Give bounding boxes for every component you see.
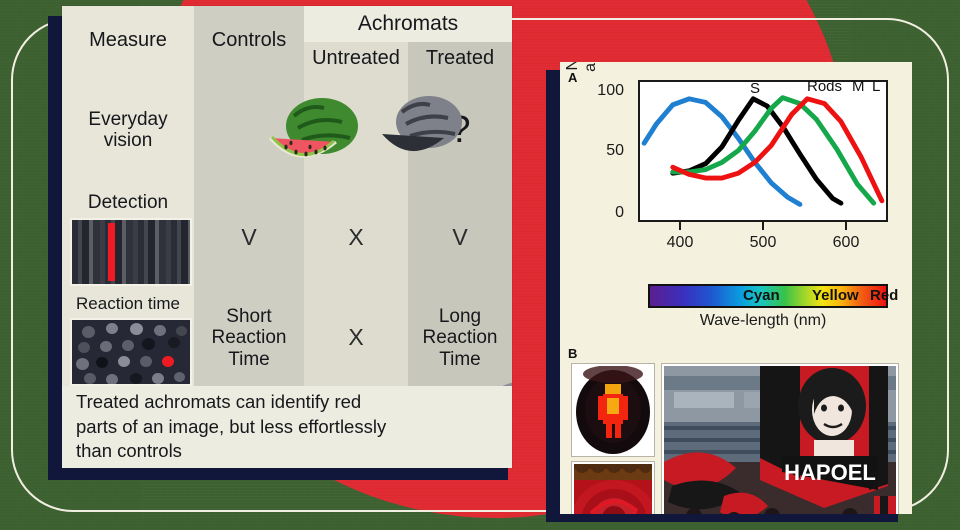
- grating-bars: [72, 220, 190, 284]
- absorbance-plot: [638, 80, 888, 222]
- reaction-distractor-dot: [176, 326, 187, 336]
- curve-Rods: [673, 99, 841, 203]
- spectra-curves: [640, 82, 886, 220]
- red-rose-photo: [572, 462, 654, 514]
- flag-banner-text: HAPOEL: [784, 460, 876, 485]
- table-footer-note: Treated achromats can identify red parts…: [62, 386, 512, 468]
- cell-detection-treated: V: [408, 186, 512, 290]
- curve-label-S: S: [750, 80, 760, 97]
- row-label-everyday-vision: Everyday vision: [62, 74, 194, 186]
- comparison-table-card: Measure Controls Achromats Untreated Tre…: [62, 6, 512, 468]
- cell-reaction-treated-line3: Time: [439, 349, 481, 370]
- cell-reaction-controls-line1: Short: [226, 306, 271, 327]
- cell-reaction-treated-line2: Reaction: [423, 327, 498, 348]
- chart-xtick-400: 400: [658, 234, 702, 252]
- gray-dots-with-red-dot-image: [70, 318, 192, 386]
- cell-reaction-treated: Long Reaction Time: [408, 290, 512, 386]
- spectrum-label-cyan: Cyan: [743, 287, 780, 304]
- chart-x-axis-ticks: [638, 222, 888, 234]
- reaction-distractor-dot: [96, 357, 108, 368]
- watermelon-grayscale-image: [380, 92, 466, 164]
- reaction-distractor-dot: [130, 373, 142, 384]
- curve-label-Rods: Rods: [807, 78, 842, 95]
- cell-detection-untreated: X: [304, 186, 408, 290]
- row-label-reaction-time-text: Reaction time: [76, 294, 180, 313]
- figure-card: A Normalized absorbance 100 50 0 S Rods …: [560, 62, 912, 514]
- header-treated: Treated: [408, 42, 512, 74]
- reaction-distractor-dot: [168, 337, 180, 348]
- curve-label-M: M: [852, 78, 865, 95]
- reaction-distractor-dot: [174, 372, 185, 382]
- reaction-distractor-dot: [154, 325, 166, 336]
- reaction-distractor-dot: [122, 340, 134, 351]
- reaction-distractor-dot: [140, 356, 152, 367]
- header-measure: Measure: [62, 6, 194, 74]
- spectrum-label-yellow: Yellow: [812, 287, 859, 304]
- reaction-distractor-dot: [106, 374, 118, 385]
- reaction-distractor-dot: [106, 323, 118, 334]
- spectrum-label-red: Red: [870, 287, 898, 304]
- table-footer-note-text: Treated achromats can identify red parts…: [76, 390, 396, 463]
- reaction-distractor-dot: [78, 342, 90, 353]
- reaction-distractor-dot: [130, 323, 143, 335]
- header-controls: Controls: [194, 6, 304, 74]
- cell-detection-controls: V: [194, 186, 304, 290]
- reaction-distractor-dot: [82, 326, 95, 338]
- reaction-distractor-dot: [76, 358, 89, 370]
- row-label-line1: Everyday: [88, 109, 167, 130]
- hapoel-football-crowd-red-black-flags-photo: HAPOEL: [662, 364, 898, 514]
- reaction-distractor-dot: [152, 373, 164, 384]
- photo-group: HAPOEL: [570, 362, 902, 506]
- watermelon-color-image: [264, 94, 364, 170]
- reaction-target-red-dot: [162, 356, 174, 367]
- cell-reaction-controls-line2: Reaction: [212, 327, 287, 348]
- panel-b-letter: B: [568, 346, 577, 361]
- cell-reaction-controls: Short Reaction Time: [194, 290, 304, 386]
- header-achromats: Achromats: [304, 6, 512, 42]
- traffic-light-red-pedestrian-photo: [572, 364, 654, 456]
- chart-ytick-0: 0: [580, 204, 624, 222]
- cell-reaction-controls-line3: Time: [228, 349, 270, 370]
- chart-ytick-100: 100: [580, 82, 624, 100]
- reaction-distractor-dot: [84, 373, 96, 384]
- chart-xtick-500: 500: [741, 234, 785, 252]
- chart-ytick-50: 50: [580, 142, 624, 160]
- reaction-distractor-dot: [142, 338, 155, 350]
- cell-reaction-untreated: X: [304, 290, 408, 386]
- header-untreated: Untreated: [304, 42, 408, 74]
- chart-xtick-600: 600: [824, 234, 868, 252]
- curve-label-L: L: [872, 78, 880, 95]
- chart-x-axis-label: Wave-length (nm): [638, 312, 888, 330]
- reaction-distractor-dot: [118, 356, 130, 367]
- red-bar-grating-image: [70, 218, 192, 286]
- grating-red-bar: [108, 223, 115, 281]
- row-label-line2: vision: [104, 130, 153, 151]
- cell-reaction-treated-line1: Long: [439, 306, 481, 327]
- reaction-distractor-dot: [100, 341, 112, 352]
